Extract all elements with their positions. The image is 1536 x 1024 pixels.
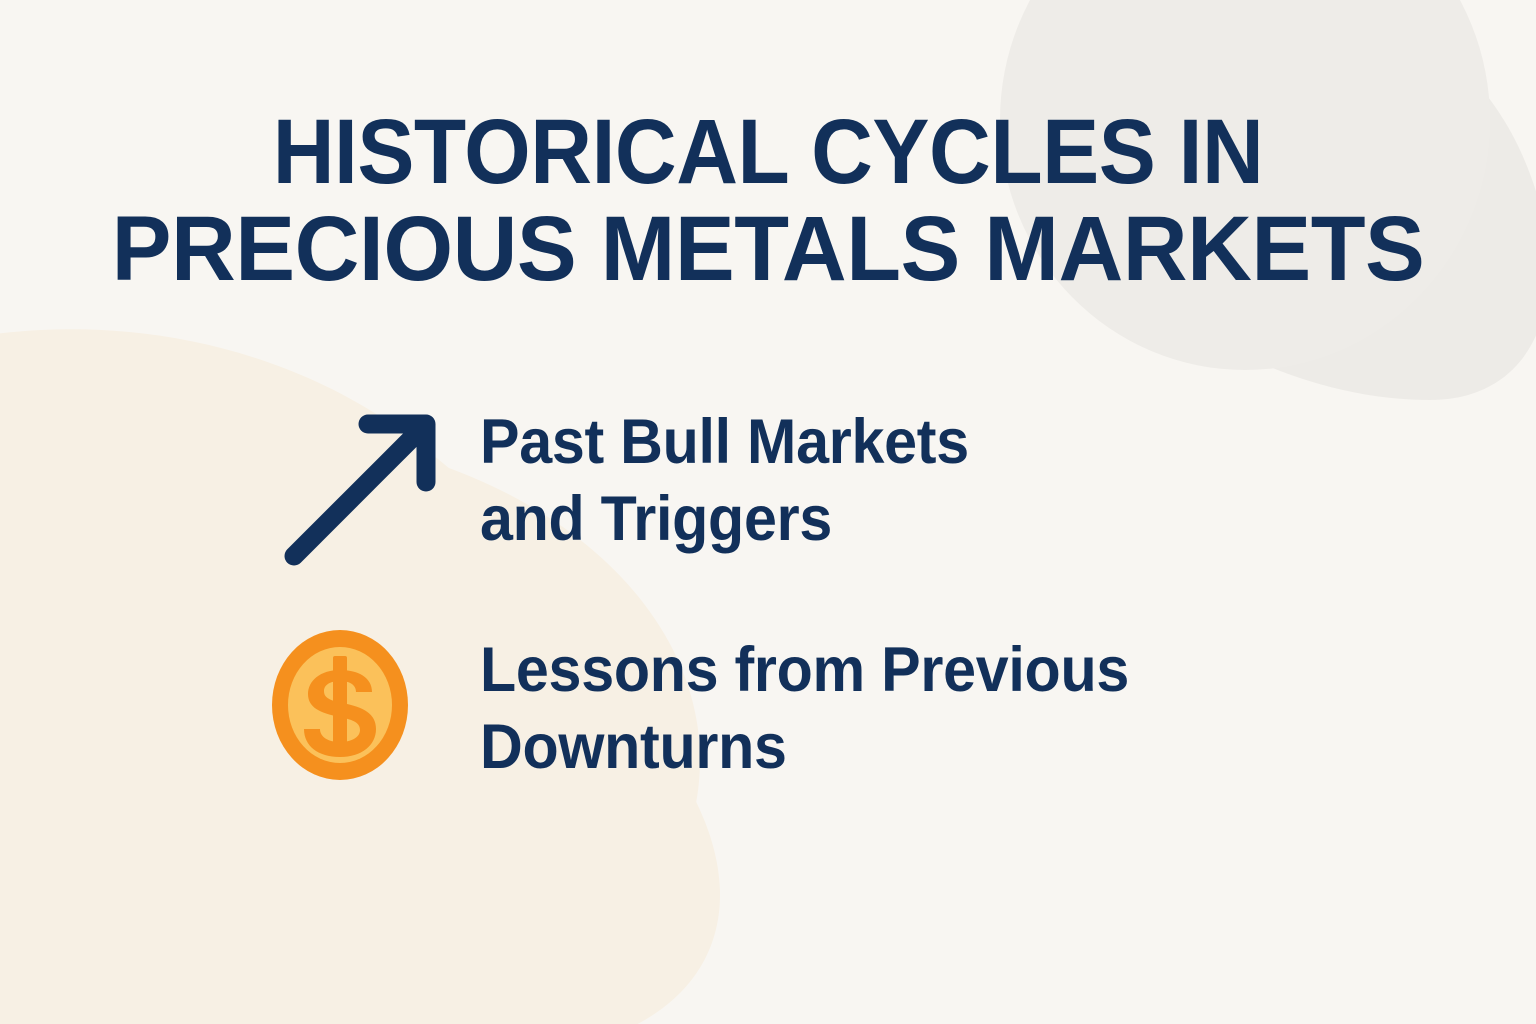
list-item: Past Bull Markets and Triggers <box>270 398 1370 578</box>
page-title: HISTORICAL CYCLES IN PRECIOUS METALS MAR… <box>0 104 1536 298</box>
bullet-label-1: Past Bull Markets and Triggers <box>480 398 969 558</box>
trending-up-arrow-icon <box>270 398 480 578</box>
dollar-coin-icon <box>270 618 480 798</box>
bullet-icon-slot-1 <box>270 398 480 568</box>
bullet-label-2: Lessons from Previous Downturns <box>480 618 1129 786</box>
title-line-1: HISTORICAL CYCLES IN <box>54 104 1482 201</box>
title-line-2: PRECIOUS METALS MARKETS <box>19 201 1517 298</box>
list-item: Lessons from Previous Downturns <box>270 618 1370 798</box>
bullet-icon-slot-2 <box>270 618 480 788</box>
bullet-list: Past Bull Markets and Triggers Lessons f… <box>270 398 1370 798</box>
slide-canvas: HISTORICAL CYCLES IN PRECIOUS METALS MAR… <box>0 0 1536 1024</box>
